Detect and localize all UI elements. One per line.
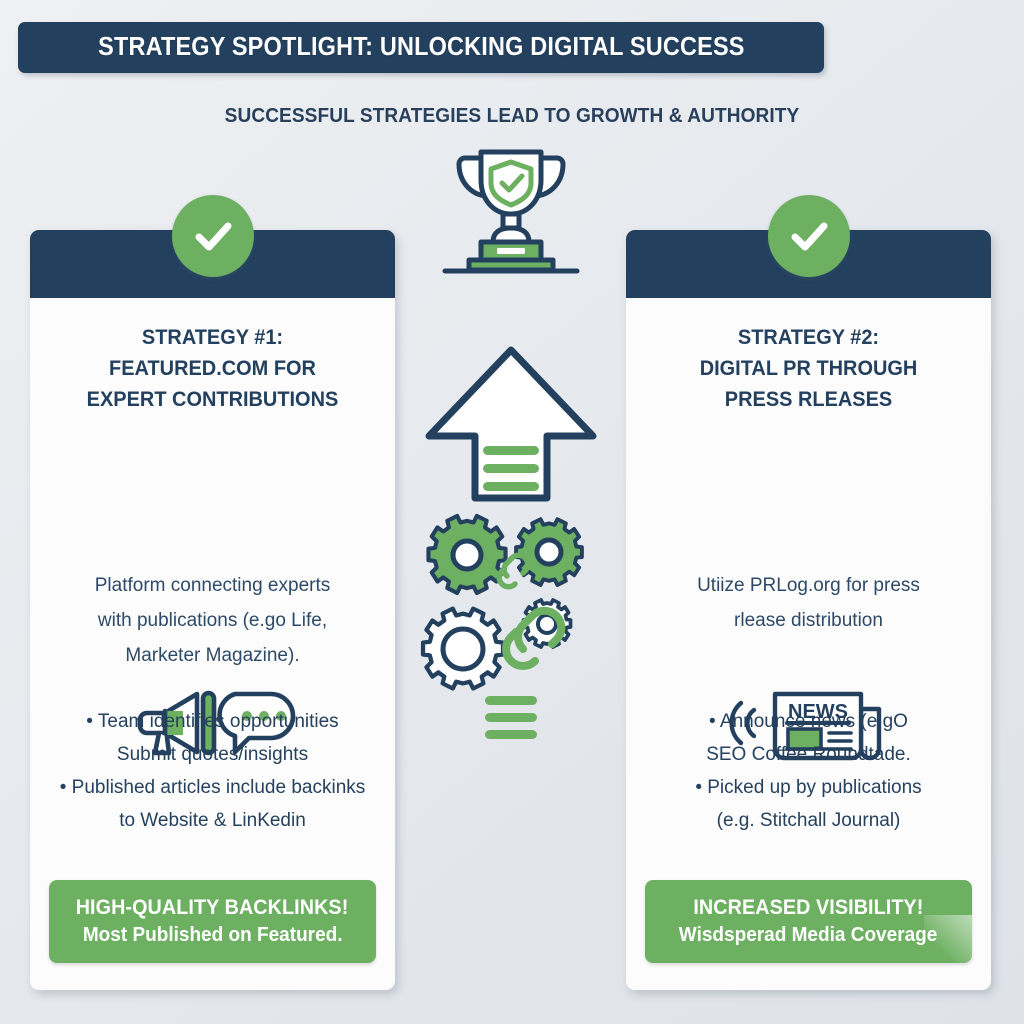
card-title-line: STRATEGY #2:: [647, 322, 971, 353]
arrow-progress-bars: [483, 446, 539, 491]
trophy-icon: [396, 140, 626, 275]
gear-icon: [516, 519, 582, 585]
card-title-line: STRATEGY #1:: [51, 322, 375, 353]
card-bullets-2: • Announce news (e.gO SEO Coffee Roundta…: [640, 705, 977, 837]
list-item: • Published articles include backinks: [44, 771, 381, 804]
page-curl-decoration: [924, 915, 972, 963]
list-item: • Team identifies opportunities: [44, 705, 381, 738]
list-item: to Website & LinKedin: [44, 804, 381, 837]
card-title-line: DIGITAL PR THROUGH: [647, 353, 971, 384]
description-line: Utiize PRLog.org for press: [652, 568, 965, 603]
outcome-banner-2[interactable]: INCREASED VISIBILITY! Wisdsperad Media C…: [645, 880, 972, 963]
gears-and-links-icon: [396, 510, 626, 745]
description-line: Platform connecting experts: [56, 568, 369, 603]
card-description-2: Utiize PRLog.org for press rlease distri…: [652, 568, 965, 638]
card-title-2: STRATEGY #2: DIGITAL PR THROUGH PRESS RL…: [647, 322, 971, 415]
gear-icon: [423, 609, 503, 689]
description-line: with publications (e.go Life,: [56, 603, 369, 638]
card-title-line: PRESS RLEASES: [647, 384, 971, 415]
page-subtitle: SUCCESSFUL STRATEGIES LEAD TO GROWTH & A…: [36, 104, 988, 128]
description-line: rlease distribution: [652, 603, 965, 638]
banner-subline: Wisdsperad Media Coverage: [679, 924, 938, 947]
gear-icon: [428, 516, 505, 593]
center-graphics-column: [396, 140, 626, 760]
card-bullets-1: • Team identifies opportunities Submit q…: [44, 705, 381, 837]
strategy-card-2[interactable]: STRATEGY #2: DIGITAL PR THROUGH PRESS RL…: [626, 230, 991, 990]
card-title-line: EXPERT CONTRIBUTIONS: [51, 384, 375, 415]
strategy-card-1[interactable]: STRATEGY #1: FEATURED.COM FOR EXPERT CON…: [30, 230, 395, 990]
outcome-banner-1[interactable]: HIGH-QUALITY BACKLINKS! Most Published o…: [49, 880, 376, 963]
card-title-line: FEATURED.COM FOR: [51, 353, 375, 384]
check-circle-icon: [172, 195, 254, 277]
card-title-1: STRATEGY #1: FEATURED.COM FOR EXPERT CON…: [51, 322, 375, 415]
list-item: • Announce news (e.gO: [640, 705, 977, 738]
page-title: STRATEGY SPOTLIGHT: UNLOCKING DIGITAL SU…: [98, 33, 745, 62]
banner-subline: Most Published on Featured.: [83, 924, 343, 947]
description-line: Marketer Magazine).: [56, 638, 369, 673]
list-item: Submit quotes/insights: [44, 738, 381, 771]
progress-bars: [485, 696, 537, 739]
check-circle-icon: [768, 195, 850, 277]
banner-headline: INCREASED VISIBILITY!: [693, 896, 923, 920]
up-arrow-icon: [396, 340, 626, 505]
list-item: (e.g. Stitchall Journal): [640, 804, 977, 837]
card-description-1: Platform connecting experts with publica…: [56, 568, 369, 673]
page-title-bar: STRATEGY SPOTLIGHT: UNLOCKING DIGITAL SU…: [18, 22, 824, 73]
list-item: SEO Coffee Roundtade.: [640, 738, 977, 771]
list-item: • Picked up by publications: [640, 771, 977, 804]
banner-headline: HIGH-QUALITY BACKLINKS!: [76, 896, 349, 920]
